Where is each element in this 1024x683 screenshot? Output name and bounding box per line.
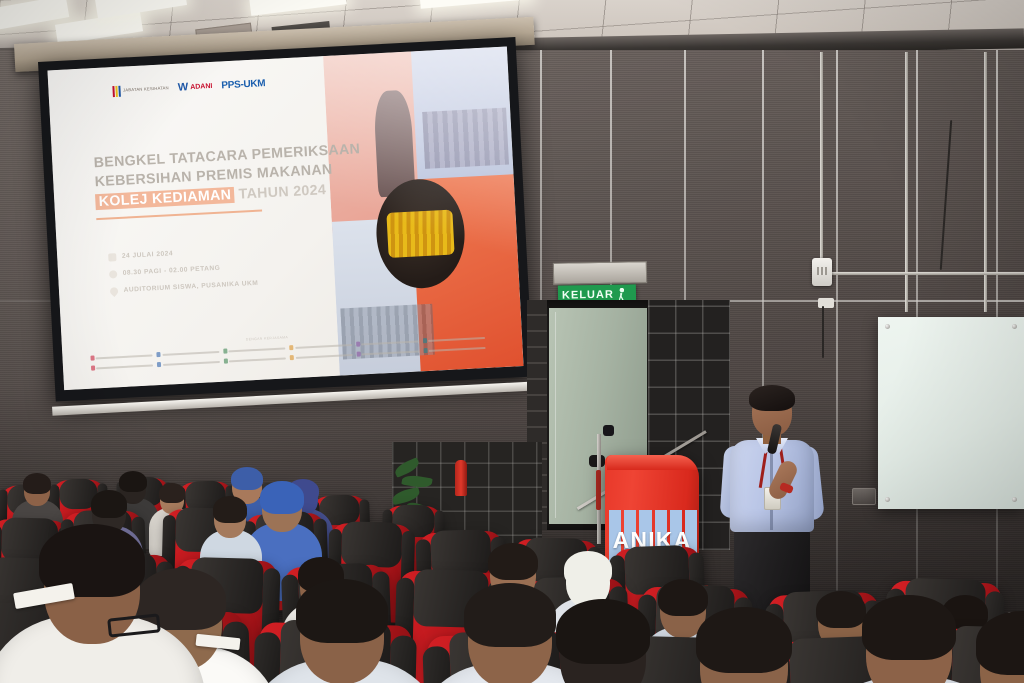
audience-hair	[556, 599, 651, 664]
auditorium-photo: JABATAN KESIHATAN W ADANI PPS-UKM BENGKE…	[0, 0, 1024, 683]
ppsukm-logo: PPS-UKM	[221, 77, 266, 92]
door-edge-line	[555, 312, 556, 518]
electrical-junction-box	[818, 298, 834, 308]
madani-logo-label: ADANI	[190, 83, 213, 91]
whiteboard-mount-bolt	[1012, 324, 1017, 329]
slide-location: AUDITORIUM SISWA, PUSANIKA UKM	[123, 280, 258, 294]
fire-extinguisher	[455, 460, 467, 496]
presenter-hair	[749, 385, 795, 411]
wall-socket[interactable]	[852, 488, 876, 505]
audience-hair	[260, 481, 303, 513]
location-pin-icon	[108, 285, 119, 296]
audience-hair	[23, 473, 51, 494]
seat-headrest	[342, 521, 402, 568]
audience-hair	[564, 551, 612, 587]
audience-hair	[231, 467, 263, 491]
audience-hair	[658, 579, 708, 617]
madani-logo: W ADANI	[177, 80, 212, 95]
electrical-conduit	[826, 272, 1024, 275]
microphone-stand-grip[interactable]	[596, 470, 601, 510]
whiteboard-mount-bolt	[885, 324, 890, 329]
audience-hair	[862, 595, 957, 660]
audience-hair	[119, 471, 147, 492]
logo-bars	[113, 85, 122, 96]
podium-top-surface	[607, 455, 697, 470]
audience-hair	[213, 496, 248, 523]
projection-screen: JABATAN KESIHATAN W ADANI PPS-UKM BENGKE…	[38, 37, 533, 402]
slide-date: 24 JULAI 2024	[122, 250, 174, 260]
audience-hair	[464, 583, 556, 646]
whiteboard-mount-bolt	[1012, 497, 1017, 502]
power-cable	[822, 306, 824, 358]
microphone-boom-clutch[interactable]	[603, 425, 614, 436]
slide-title-year: TAHUN 2024	[238, 182, 326, 203]
audience-hair	[488, 543, 538, 581]
audience-hair	[296, 579, 388, 642]
glass-whiteboard[interactable]	[878, 317, 1024, 509]
clock-icon	[109, 270, 117, 278]
exit-sign-mount	[553, 261, 647, 285]
whiteboard-mount-bolt	[885, 497, 890, 502]
madani-w-mark: W	[178, 82, 189, 94]
slide-left-panel	[47, 55, 353, 390]
audience-hair	[816, 591, 866, 629]
slide-time: 08.30 PAGI - 02.00 PETANG	[123, 265, 221, 277]
electrical-switch-box[interactable]	[812, 258, 832, 286]
presenter-with-microphone	[718, 388, 822, 618]
screen-glare	[323, 46, 523, 375]
electrical-conduit	[820, 52, 823, 264]
audience-hair	[696, 607, 793, 673]
audience-hair	[159, 483, 185, 503]
calendar-icon	[108, 253, 116, 261]
slide-photo-collage	[323, 46, 523, 375]
screen-surface: JABATAN KESIHATAN W ADANI PPS-UKM BENGKE…	[47, 46, 523, 390]
audience-hair	[91, 490, 128, 518]
jata-negara-logo-label: JABATAN KESIHATAN	[123, 86, 169, 94]
ppsukm-logo-label: PPS-UKM	[221, 78, 266, 91]
